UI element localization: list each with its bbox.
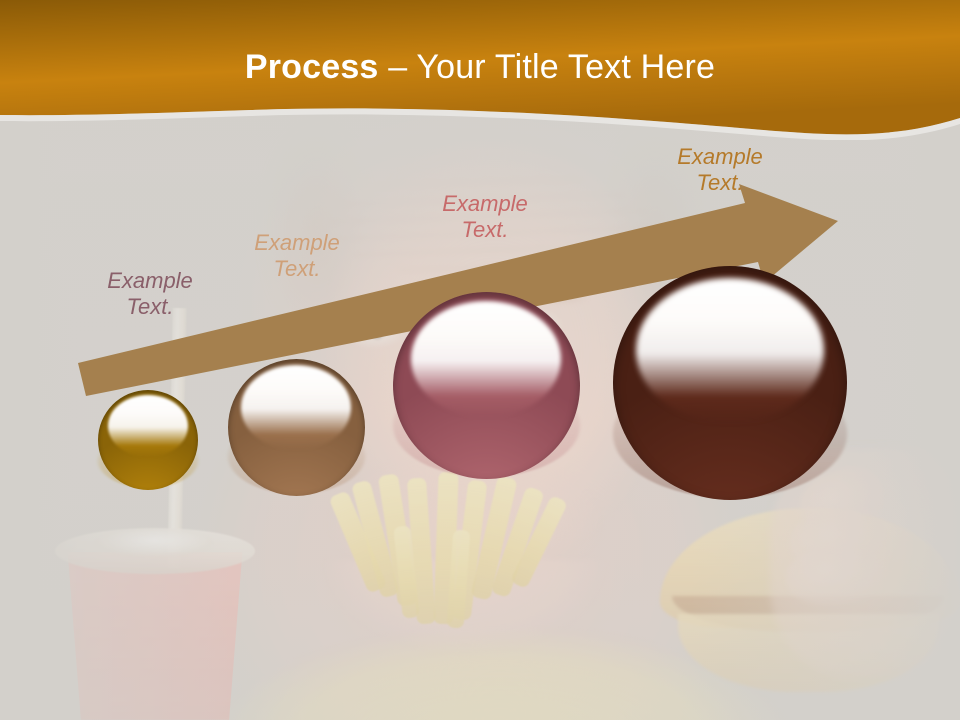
step-label-1-line1: Example	[75, 268, 225, 294]
step-label-3-line1: Example	[410, 191, 560, 217]
slide-canvas: Example Text. Example Text. Example Text…	[0, 0, 960, 720]
sphere-gloss-2	[241, 365, 351, 450]
sphere-gloss-3	[411, 301, 561, 417]
process-sphere-4[interactable]	[613, 266, 847, 500]
process-sphere-1[interactable]	[98, 390, 198, 490]
cup-lid-highlight	[95, 530, 213, 556]
title-banner: Process – Your Title Text Here	[0, 0, 960, 138]
page-title-rest: – Your Title Text Here	[379, 48, 716, 86]
process-sphere-2[interactable]	[228, 359, 365, 496]
step-label-2-line2: Text.	[222, 256, 372, 282]
page-title-strong: Process	[245, 48, 379, 86]
page-title: Process – Your Title Text Here	[0, 48, 960, 87]
step-label-4-line1: Example	[645, 144, 795, 170]
step-label-3-line2: Text.	[410, 217, 560, 243]
step-label-3[interactable]: Example Text.	[410, 191, 560, 243]
step-label-2[interactable]: Example Text.	[222, 230, 372, 282]
step-label-1[interactable]: Example Text.	[75, 268, 225, 320]
french-fries	[340, 470, 590, 670]
step-label-1-line2: Text.	[75, 294, 225, 320]
soda-cup	[60, 552, 250, 720]
step-label-2-line1: Example	[222, 230, 372, 256]
step-label-4-line2: Text.	[645, 170, 795, 196]
process-sphere-3[interactable]	[393, 292, 580, 479]
sphere-gloss-4	[636, 278, 823, 423]
step-label-4[interactable]: Example Text.	[645, 144, 795, 196]
sphere-gloss-1	[108, 395, 188, 457]
